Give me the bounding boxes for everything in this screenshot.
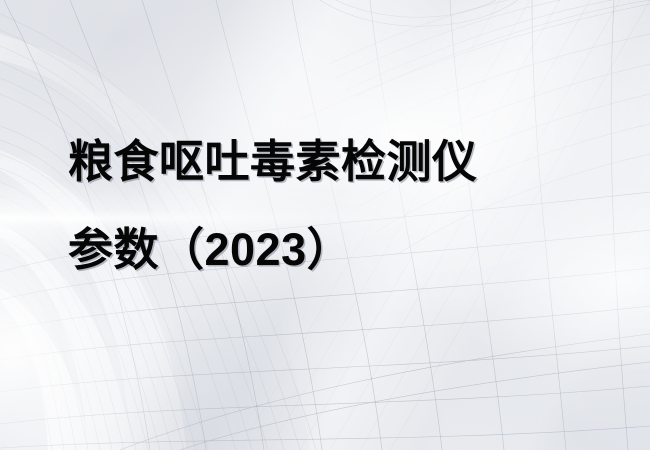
banner-title-block: 粮食呕吐毒素检测仪 参数（2023） [68,118,608,294]
banner-title-line-1: 粮食呕吐毒素检测仪 [68,118,608,206]
title-banner: 粮食呕吐毒素检测仪 参数（2023） [0,0,650,450]
banner-title-line-2: 参数（2023） [68,206,608,294]
